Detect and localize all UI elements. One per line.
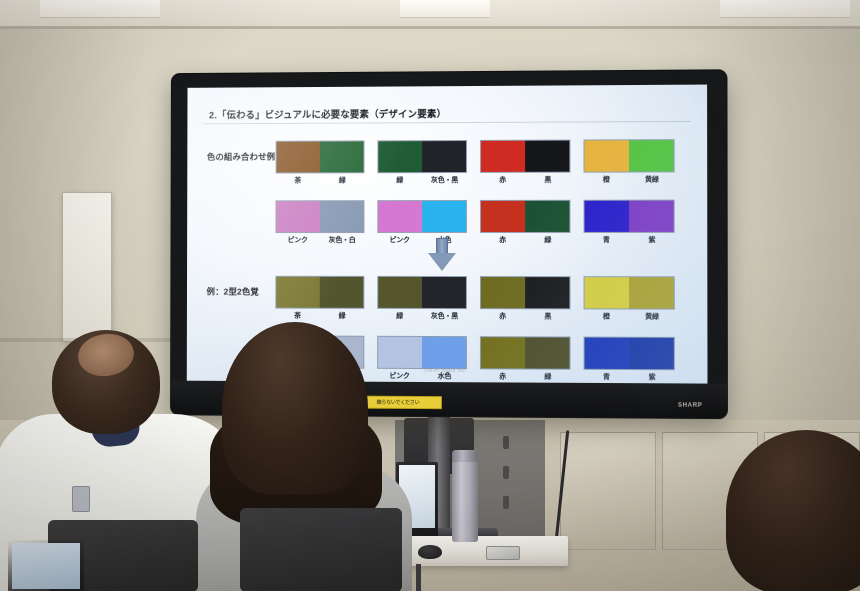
swatch-right	[629, 338, 674, 369]
swatch-pair: ピンク 水色	[377, 336, 467, 381]
swatch-caption: ピンク 灰色・白	[275, 235, 364, 245]
swatch-right	[525, 141, 569, 172]
swatch-bar	[584, 276, 675, 309]
swatch-pair: 橙 黄緑	[584, 276, 675, 322]
swatch-right-label: 黒	[525, 175, 570, 185]
swatch-right	[422, 277, 466, 308]
swatch-left-label: 青	[584, 372, 630, 382]
swatch-left-label: 橙	[584, 311, 630, 321]
swatch-right-label: 緑	[525, 372, 570, 382]
swatch-right	[320, 201, 364, 232]
section-label-simulated: 例：2型2色覚	[207, 286, 259, 298]
table-leg	[416, 564, 421, 591]
laptop[interactable]	[8, 540, 84, 591]
swatch-left-label: 茶	[275, 311, 319, 321]
swatch-left	[378, 141, 422, 172]
computer-mouse[interactable]	[418, 545, 442, 559]
swatch-pair: ピンク 灰色・白	[275, 200, 364, 245]
swatch-caption: 赤 緑	[480, 235, 570, 245]
swatch-right	[629, 201, 674, 232]
swatch-right-label: 黄緑	[629, 312, 675, 322]
cabinet-panel	[560, 432, 656, 550]
swatch-right-label: 紫	[629, 372, 675, 382]
swatch-right	[525, 337, 569, 368]
swatch-left-label: 緑	[377, 175, 422, 185]
swatch-left-label: 橙	[584, 175, 629, 185]
swatch-left-label: 赤	[480, 371, 525, 381]
swatch-pair: 赤 黒	[480, 140, 570, 185]
swatch-left-label: ピンク	[377, 371, 422, 381]
swatch-caption: 橙 黄緑	[584, 311, 675, 321]
swatch-pair: 茶 緑	[275, 276, 364, 321]
swatch-left-label: 茶	[276, 175, 320, 185]
swatch-left	[276, 201, 319, 232]
swatch-pair: 赤 緑	[480, 200, 570, 245]
swatch-left	[481, 141, 525, 172]
swatch-left-label: 青	[584, 235, 630, 245]
swatch-left	[585, 338, 630, 369]
ceiling-light	[40, 0, 160, 18]
swatch-right	[629, 277, 674, 308]
swatch-pair: 赤 黒	[480, 276, 570, 321]
swatch-right-label: 紫	[629, 235, 675, 245]
swatch-left	[277, 142, 320, 173]
swatch-left	[378, 277, 422, 308]
swatch-right	[320, 141, 364, 172]
swatch-left	[481, 201, 525, 232]
ceiling-light	[720, 0, 850, 18]
swatch-caption: 赤 緑	[480, 371, 571, 382]
water-bottle[interactable]	[452, 450, 478, 542]
swatch-caption: 橙 黄緑	[584, 174, 675, 184]
swatch-bar	[377, 276, 467, 309]
swatch-right	[422, 337, 466, 368]
swatch-pair: 茶 緑	[276, 140, 365, 185]
swatch-left	[276, 277, 319, 308]
swatch-caption: 赤 黒	[480, 175, 570, 185]
section-label-original: 色の組み合わせ例	[207, 151, 275, 163]
swatch-bar	[377, 140, 467, 173]
ceiling-light	[400, 0, 490, 18]
swatch-bar	[480, 276, 570, 309]
swatch-pair: 赤 緑	[480, 336, 571, 382]
swatch-left	[585, 201, 630, 232]
swatch-pair: 青 紫	[584, 200, 675, 245]
swatch-caption: 青 紫	[584, 372, 675, 383]
swatch-pair: 橙 黄緑	[583, 139, 674, 185]
person-head	[222, 322, 368, 494]
swatch-right	[422, 141, 466, 172]
swatch-bar	[480, 140, 570, 173]
swatch-pair: 緑 灰色・黒	[377, 276, 467, 321]
swatch-bar	[377, 200, 467, 233]
swatch-bar	[584, 337, 675, 371]
swatch-right-label: 黒	[525, 311, 570, 321]
swatch-left-label: 赤	[480, 311, 525, 321]
swatch-right	[629, 140, 674, 171]
chair	[240, 508, 402, 591]
swatch-left-label: ピンク	[377, 235, 422, 245]
swatch-bar	[377, 336, 467, 369]
swatch-right-label: 灰色・黒	[422, 311, 467, 321]
swatch-bar	[275, 276, 364, 309]
swatch-left-label: 赤	[480, 235, 525, 245]
swatch-bar	[584, 200, 675, 233]
swatch-bar	[275, 200, 364, 233]
id-badge	[72, 486, 90, 512]
swatch-right	[422, 201, 466, 232]
swatch-right	[320, 277, 364, 308]
swatch-right-label: 灰色・白	[320, 235, 365, 245]
slide-copyright: ©Mori Naka inc	[424, 368, 466, 374]
swatch-right-label: 緑	[320, 175, 365, 185]
swatch-right-label: 黄緑	[629, 174, 675, 184]
swatch-left-label: 赤	[480, 175, 525, 185]
smartphone[interactable]	[486, 546, 520, 560]
slide-title: 2.「伝わる」ビジュアルに必要な要素（デザイン要素）	[209, 106, 446, 121]
swatch-pair: 緑 灰色・黒	[377, 140, 467, 185]
swatch-left	[378, 201, 422, 232]
swatch-right	[525, 277, 569, 308]
down-arrow-icon	[427, 238, 457, 272]
swatch-pair: 青 紫	[584, 337, 675, 383]
swatch-caption: 緑 灰色・黒	[377, 175, 467, 185]
swatch-caption: 緑 灰色・黒	[377, 311, 467, 321]
swatch-left	[481, 337, 525, 368]
whiteboard	[62, 192, 112, 342]
swatch-bar	[276, 140, 365, 173]
brand-logo: SHARP	[678, 403, 702, 409]
swatch-left	[585, 277, 630, 308]
swatch-caption: 茶 緑	[275, 311, 364, 321]
swatch-left	[585, 140, 629, 171]
swatch-left-label: ピンク	[275, 235, 319, 245]
swatch-left-label: 緑	[377, 311, 422, 321]
swatch-bar	[480, 336, 571, 370]
title-divider	[203, 121, 691, 124]
swatch-right-label: 灰色・黒	[422, 175, 467, 185]
swatch-right	[525, 201, 569, 232]
swatch-right-label: 緑	[320, 311, 365, 321]
swatch-left	[481, 277, 525, 308]
photo-scene: 2.「伝わる」ビジュアルに必要な要素（デザイン要素） 色の組み合わせ例 例：2型…	[0, 0, 860, 591]
swatch-bar	[480, 200, 570, 233]
swatch-left	[378, 337, 422, 368]
swatch-caption: 赤 黒	[480, 311, 570, 321]
swatch-right-label: 緑	[525, 235, 570, 245]
swatch-bar	[583, 139, 674, 173]
swatch-caption: 青 紫	[584, 235, 675, 245]
swatch-caption: 茶 緑	[276, 175, 365, 185]
